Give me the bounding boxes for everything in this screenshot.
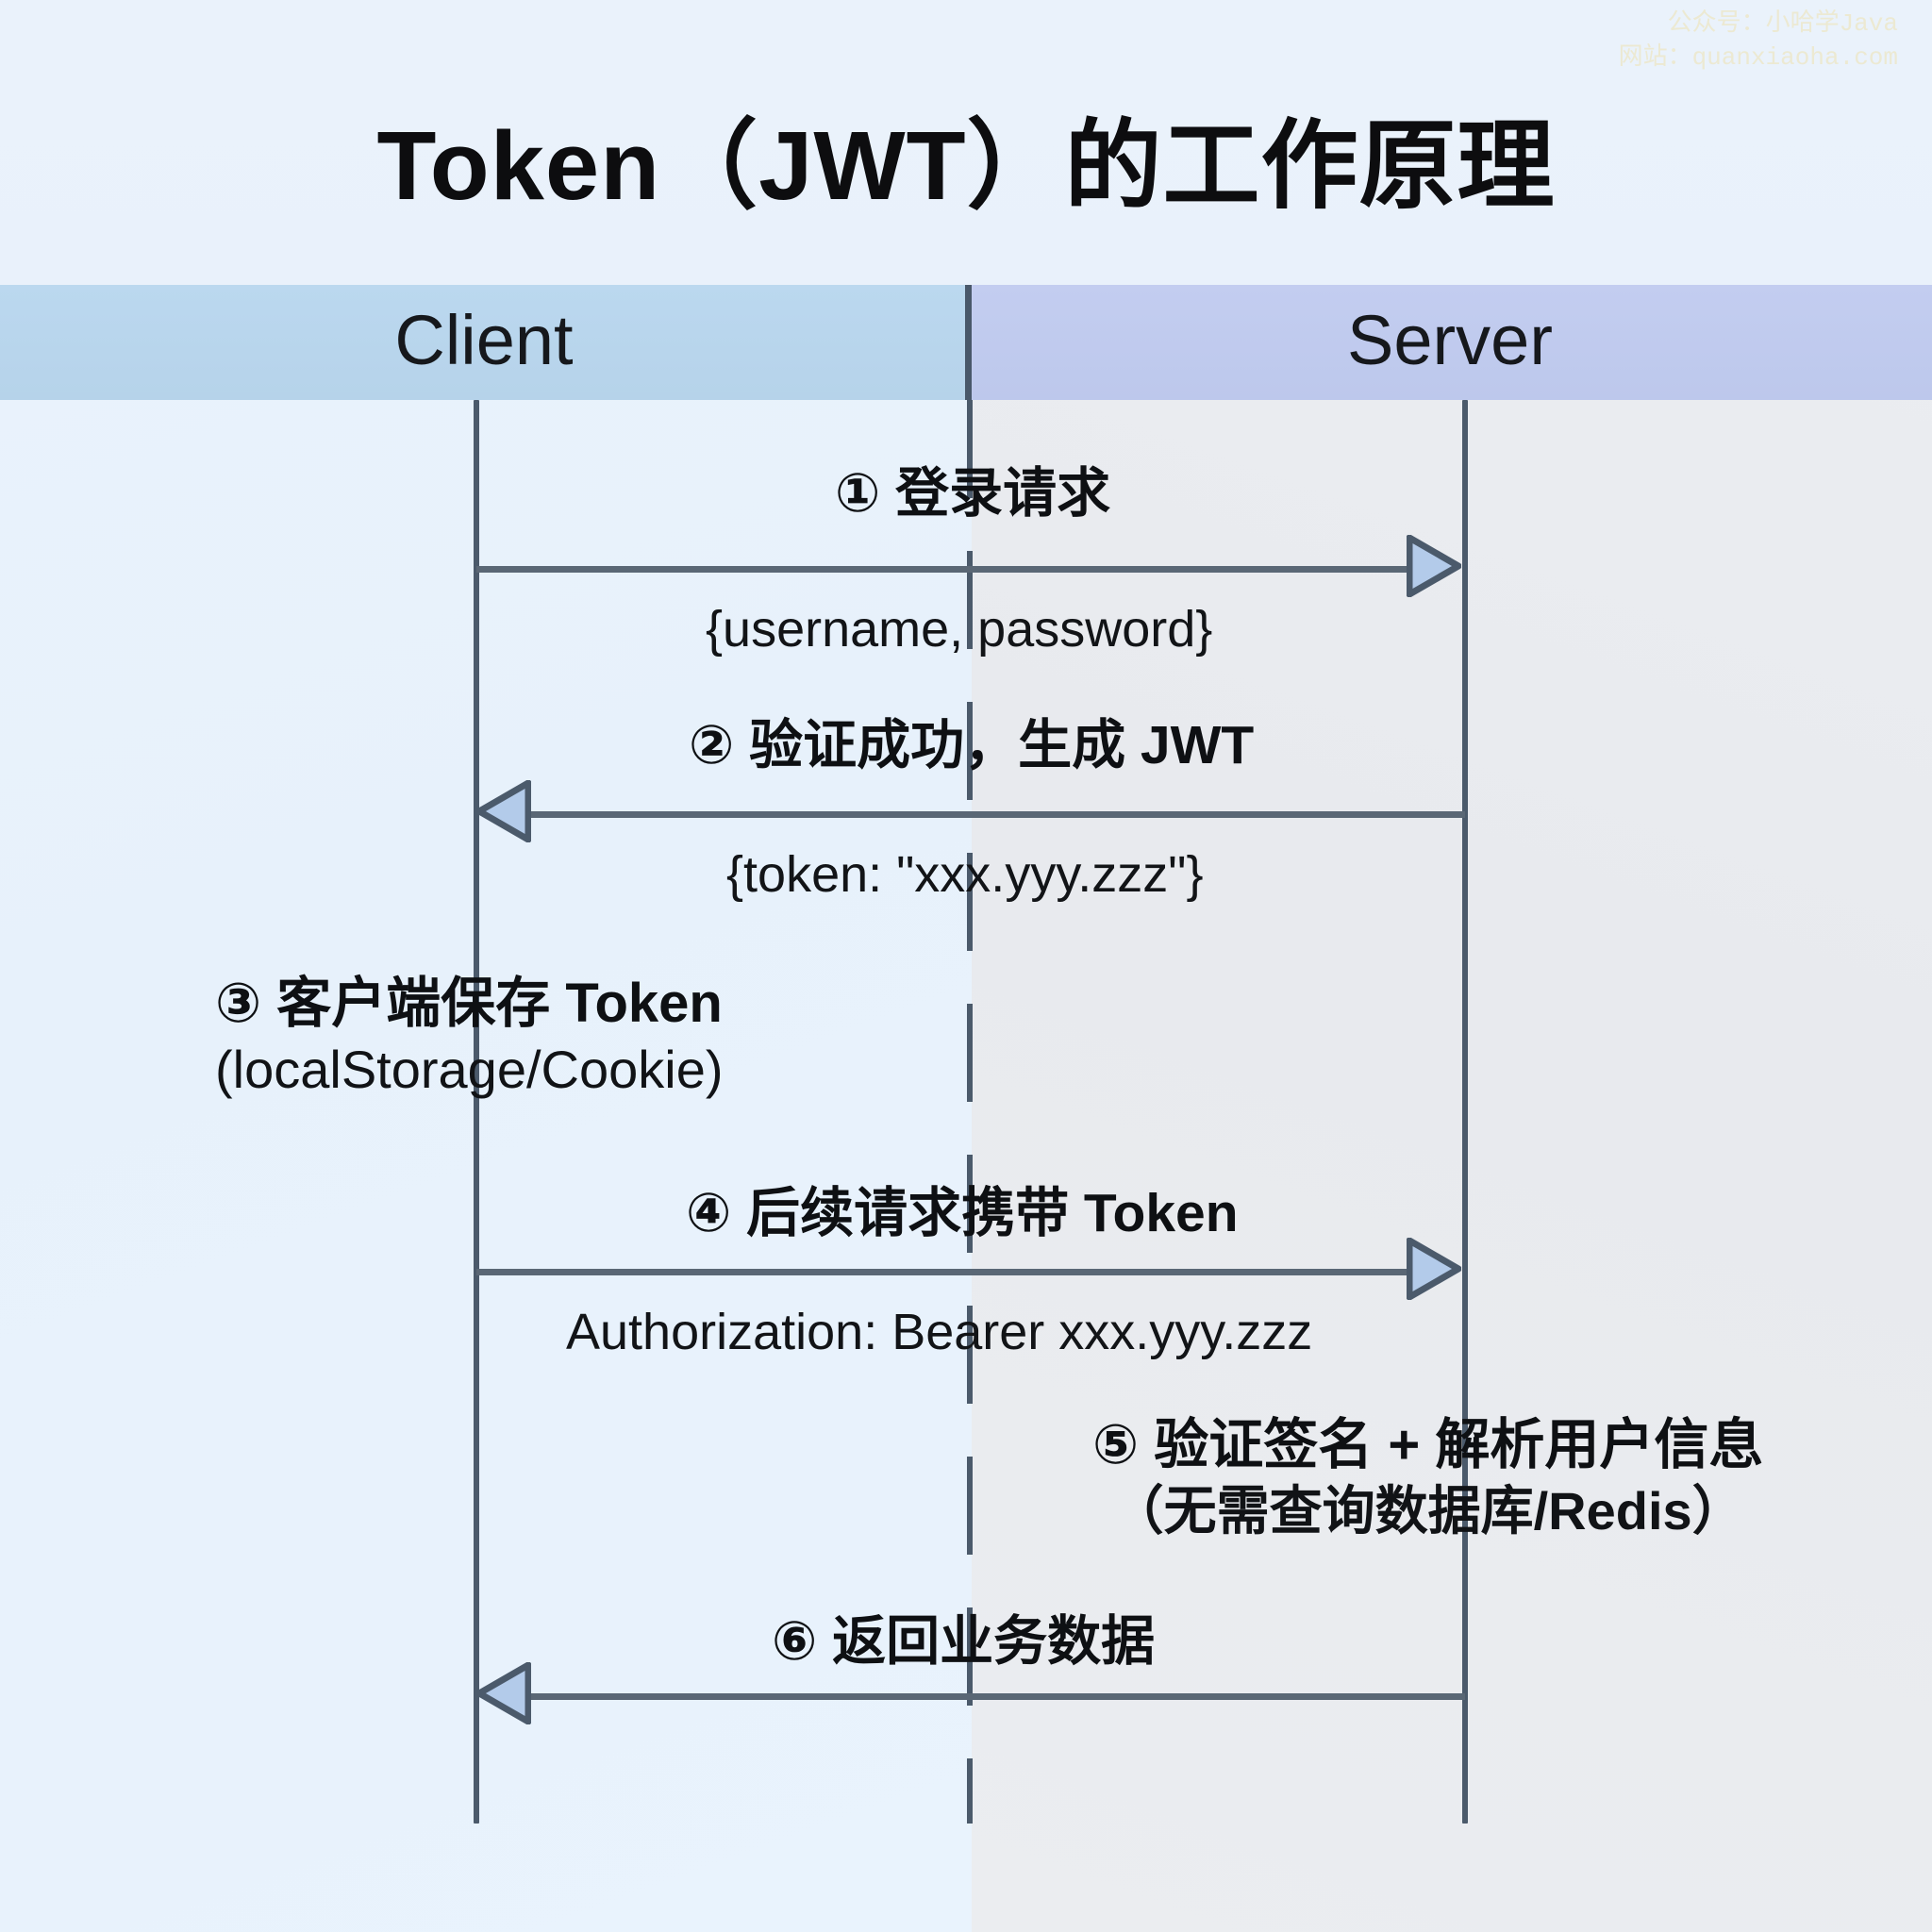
step-1-payload: {username, password} — [706, 604, 1212, 655]
lifeline-server — [1462, 400, 1468, 1824]
step-2-arrowhead-icon — [476, 780, 531, 842]
lane-label-server: Server — [1347, 306, 1553, 375]
step-2-arrow-line — [528, 811, 1465, 818]
step-6-arrow-line — [528, 1693, 1465, 1700]
step-3-payload: (localStorage/Cookie) — [215, 1038, 723, 1102]
step-6-arrowhead-icon — [476, 1662, 531, 1724]
watermark-line-2: 网站：quanxiaoha.com — [1619, 42, 1898, 75]
watermark-line-1: 公众号：小哈学Java — [1619, 8, 1898, 42]
step-5-payload: （无需查询数据库/Redis） — [1092, 1479, 1763, 1543]
step-1-arrowhead-icon — [1407, 535, 1461, 597]
lane-label-client: Client — [394, 306, 573, 375]
lane-header-server: Server — [968, 285, 1932, 400]
lane-header-client: Client — [0, 285, 968, 400]
step-2-label: ② 验证成功，生成 JWT — [689, 719, 1254, 773]
step-4-label: ④ 后续请求携带 Token — [686, 1187, 1239, 1241]
step-3-note: ③ 客户端保存 Token (localStorage/Cookie) — [215, 971, 723, 1102]
step-4-arrowhead-icon — [1407, 1238, 1461, 1300]
step-4-payload: Authorization: Bearer xxx.yyy.zzz — [566, 1307, 1312, 1357]
lane-divider — [965, 285, 972, 400]
step-2-payload: {token: "xxx.yyy.zzz"} — [726, 849, 1204, 900]
step-3-label: ③ 客户端保存 Token — [215, 971, 723, 1038]
diagram-canvas: 公众号：小哈学Java 网站：quanxiaoha.com Token（JWT）… — [0, 0, 1932, 1932]
watermark: 公众号：小哈学Java 网站：quanxiaoha.com — [1619, 8, 1898, 75]
step-5-note: ⑤ 验证签名 + 解析用户信息 （无需查询数据库/Redis） — [1092, 1412, 1763, 1543]
diagram-title: Token（JWT）的工作原理 — [0, 87, 1932, 227]
step-5-label: ⑤ 验证签名 + 解析用户信息 — [1092, 1412, 1763, 1479]
step-1-label: ① 登录请求 — [835, 467, 1110, 521]
step-1-arrow-line — [476, 566, 1407, 573]
step-6-label: ⑥ 返回业务数据 — [772, 1615, 1155, 1669]
step-4-arrow-line — [476, 1269, 1407, 1275]
lifeline-client — [474, 400, 479, 1824]
